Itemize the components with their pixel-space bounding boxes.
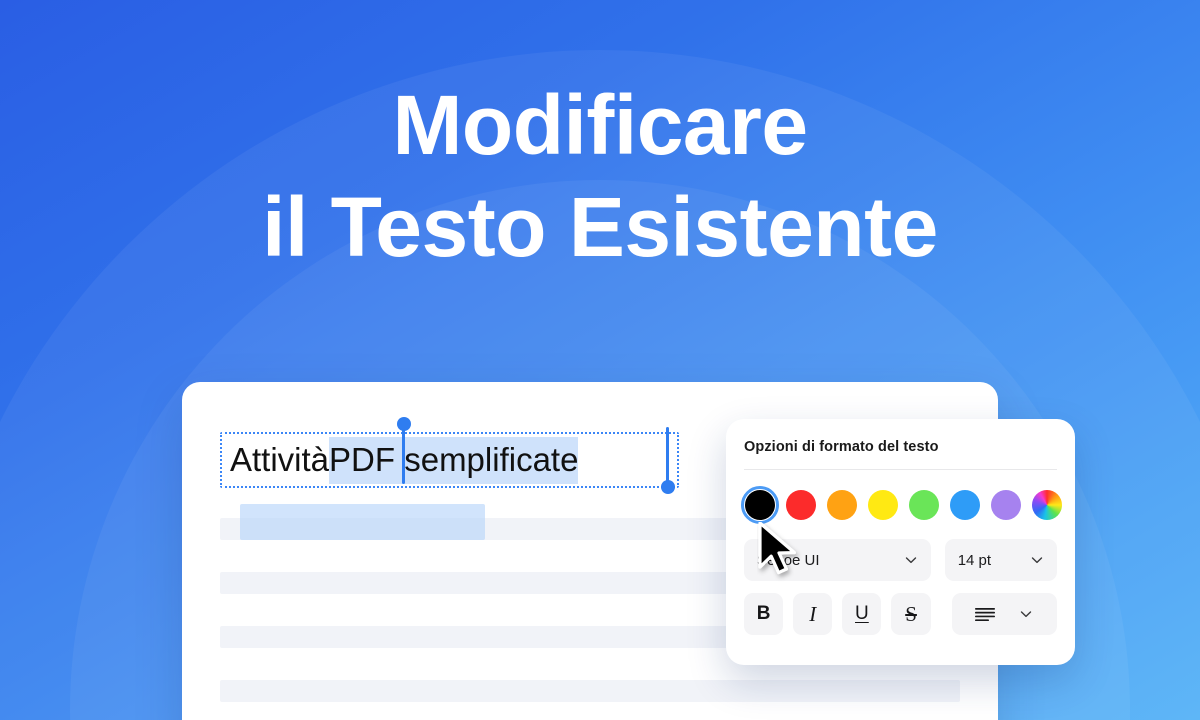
color-swatch-blue[interactable] [950,490,980,520]
color-swatch-red[interactable] [786,490,816,520]
page-title: Modificare il Testo Esistente [0,74,1200,279]
italic-button[interactable]: I [793,593,832,635]
panel-divider [744,469,1057,470]
color-swatch-black[interactable] [745,490,775,520]
chevron-down-icon [1030,553,1044,567]
color-wheel-icon[interactable] [1032,490,1062,520]
font-size-dropdown[interactable]: 14 pt [945,539,1057,581]
headline-line-1: Modificare [392,78,807,172]
text-unselected: Attività [230,441,329,478]
panel-title: Opzioni di formato del testo [744,439,1057,455]
color-swatch-orange[interactable] [827,490,857,520]
style-controls-row: B I U S [744,593,1057,635]
color-swatch-green[interactable] [909,490,939,520]
selection-handle-end-knob[interactable] [661,480,675,494]
color-swatch-row [744,490,1057,520]
align-justify-icon [975,607,995,621]
font-controls-row: Segoe UI 14 pt [744,539,1057,581]
text-selected: PDF semplificate [329,437,578,484]
font-family-value: Segoe UI [757,552,896,569]
alignment-dropdown[interactable] [952,593,1057,635]
selection-handle-end[interactable] [666,427,669,485]
document-highlight-block [240,504,485,540]
chevron-down-icon [1019,607,1033,621]
editable-text-box[interactable]: AttivitàPDF semplificate [220,432,679,488]
selection-handle-start-knob[interactable] [397,417,411,431]
text-format-panel: Opzioni di formato del testo Segoe UI 14… [726,419,1075,665]
bold-button[interactable]: B [744,593,783,635]
poster-canvas: Modificare il Testo Esistente AttivitàPD… [0,0,1200,720]
headline-line-2: il Testo Esistente [0,176,1200,278]
font-family-dropdown[interactable]: Segoe UI [744,539,931,581]
selection-handle-start[interactable] [402,426,405,484]
strikethrough-button[interactable]: S [891,593,930,635]
underline-button[interactable]: U [842,593,881,635]
color-swatch-yellow[interactable] [868,490,898,520]
font-size-value: 14 pt [958,552,1022,569]
color-swatch-purple[interactable] [991,490,1021,520]
chevron-down-icon [904,553,918,567]
document-skeleton-line [220,680,960,702]
